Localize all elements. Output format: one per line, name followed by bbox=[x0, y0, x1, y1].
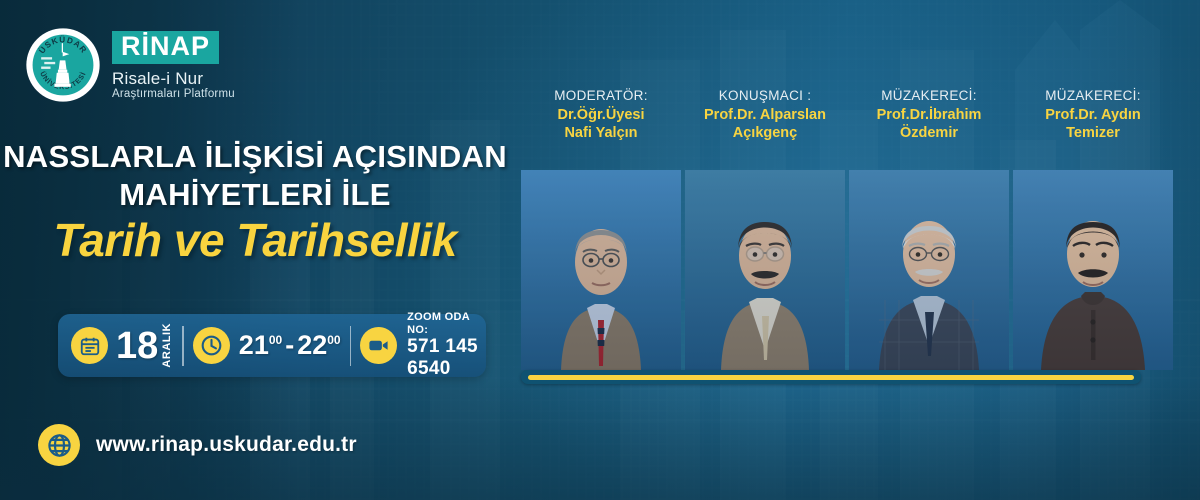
date-segment: 18 ARALIK bbox=[58, 314, 173, 377]
title-line-2: MAHİYETLERİ İLE bbox=[0, 178, 510, 213]
speaker-name: Dr.Öğr.Üyesi Nafi Yalçın bbox=[557, 107, 644, 142]
speaker-photo-1 bbox=[685, 170, 845, 370]
title-line-1: NASSLARLA İLİŞKİSİ AÇISINDAN bbox=[0, 140, 510, 175]
clock-icon bbox=[193, 327, 230, 364]
time-end-minutes: 00 bbox=[327, 333, 340, 347]
time-separator: - bbox=[285, 330, 294, 360]
zoom-room-number: 571 145 6540 bbox=[407, 336, 486, 380]
speaker-name-line1: Dr.Öğr.Üyesi bbox=[557, 107, 644, 123]
calendar-icon bbox=[71, 327, 108, 364]
zoom-room-segment: ZOOM ODA NO: 571 145 6540 bbox=[360, 314, 486, 377]
underline-bar bbox=[528, 375, 1134, 380]
speaker-role: MÜZAKERECİ: bbox=[1045, 88, 1141, 105]
uskudar-university-seal-icon: ÜSKÜDAR ÜNİVERSİTESİ bbox=[24, 26, 102, 104]
speaker-photo-0 bbox=[521, 170, 681, 370]
speaker-label-2: MÜZAKERECİ: Prof.Dr.İbrahim Özdemir bbox=[849, 88, 1009, 142]
rinap-subtitle-line1: Risale-i Nur bbox=[112, 70, 235, 87]
video-camera-icon bbox=[360, 327, 397, 364]
speaker-photo-3 bbox=[1013, 170, 1173, 370]
zoom-room-label: ZOOM ODA NO: bbox=[407, 311, 486, 336]
globe-icon bbox=[38, 424, 80, 466]
speaker-name: Prof.Dr. Aydın Temizer bbox=[1045, 107, 1141, 142]
rinap-badge: RİNAP bbox=[112, 31, 219, 64]
divider bbox=[350, 326, 352, 366]
speaker-label-1: KONUŞMACI : Prof.Dr. Alparslan Açıkgenç bbox=[685, 88, 845, 142]
speaker-photo-2 bbox=[849, 170, 1009, 370]
speaker-name-line1: Prof.Dr.İbrahim bbox=[877, 107, 982, 123]
speaker-name-line1: Prof.Dr. Aydın bbox=[1045, 107, 1141, 123]
website-link[interactable]: www.rinap.uskudar.edu.tr bbox=[38, 424, 357, 466]
speaker-name-line1: Prof.Dr. Alparslan bbox=[704, 107, 826, 123]
title-line-3-highlight: Tarih ve Tarihsellik bbox=[0, 216, 510, 264]
time-start-minutes: 00 bbox=[269, 333, 282, 347]
speaker-photos-row bbox=[521, 170, 1181, 370]
rinap-subtitle-line2: Araştırmaları Platformu bbox=[112, 89, 235, 101]
speaker-name-line2: Özdemir bbox=[900, 125, 958, 141]
event-time: 2100-2200 bbox=[239, 332, 341, 359]
speaker-name-line2: Nafi Yalçın bbox=[564, 125, 637, 141]
divider bbox=[182, 326, 184, 366]
speaker-name: Prof.Dr.İbrahim Özdemir bbox=[877, 107, 982, 142]
event-month: ARALIK bbox=[161, 323, 173, 368]
event-poster: ÜSKÜDAR ÜNİVERSİTESİ RİNAP Risale-i Nur bbox=[0, 0, 1200, 500]
speaker-name-line2: Temizer bbox=[1066, 125, 1120, 141]
website-url-text: www.rinap.uskudar.edu.tr bbox=[96, 433, 357, 457]
event-day: 18 bbox=[116, 327, 158, 365]
speaker-role: KONUŞMACI : bbox=[719, 88, 812, 105]
time-end: 22 bbox=[297, 330, 327, 360]
speaker-labels-row: MODERATÖR: Dr.Öğr.Üyesi Nafi Yalçın KONU… bbox=[521, 88, 1181, 142]
photos-underline-accent bbox=[521, 370, 1141, 384]
event-title-block: NASSLARLA İLİŞKİSİ AÇISINDAN MAHİYETLERİ… bbox=[0, 140, 510, 265]
brand-logo-group[interactable]: ÜSKÜDAR ÜNİVERSİTESİ RİNAP Risale-i Nur bbox=[24, 26, 235, 104]
event-info-bar: 18 ARALIK 2100-2200 bbox=[58, 314, 486, 377]
speaker-label-0: MODERATÖR: Dr.Öğr.Üyesi Nafi Yalçın bbox=[521, 88, 681, 142]
speaker-name: Prof.Dr. Alparslan Açıkgenç bbox=[704, 107, 826, 142]
time-start: 21 bbox=[239, 330, 269, 360]
speaker-role: MÜZAKERECİ: bbox=[881, 88, 977, 105]
speaker-label-3: MÜZAKERECİ: Prof.Dr. Aydın Temizer bbox=[1013, 88, 1173, 142]
time-segment: 2100-2200 bbox=[193, 314, 341, 377]
speaker-role: MODERATÖR: bbox=[554, 88, 648, 105]
speaker-name-line2: Açıkgenç bbox=[733, 125, 797, 141]
